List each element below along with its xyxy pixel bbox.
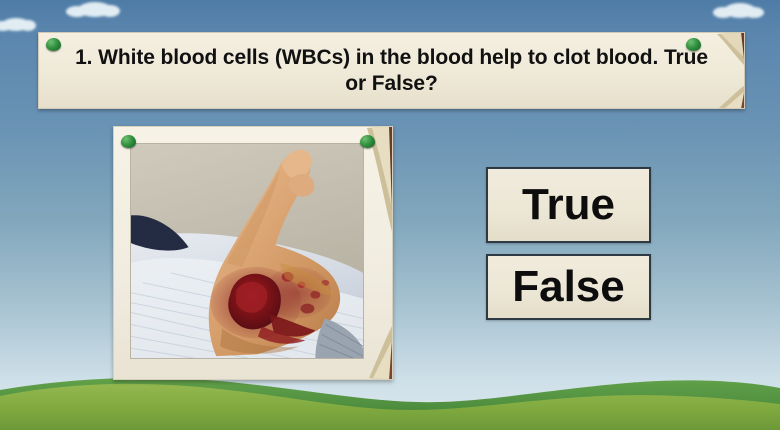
pushpin-icon (686, 38, 701, 51)
cloud-icon (724, 3, 756, 18)
photo-frame (113, 126, 393, 380)
clinical-photo (130, 143, 364, 359)
question-text: 1. White blood cells (WBCs) in the blood… (39, 45, 744, 96)
pushpin-icon (121, 135, 136, 148)
cloud-icon (2, 18, 30, 31)
answer-label-false: False (512, 265, 625, 309)
pushpin-icon (360, 135, 375, 148)
cloud-icon (78, 2, 112, 17)
answer-label-true: True (522, 183, 615, 227)
question-banner: 1. White blood cells (WBCs) in the blood… (38, 32, 745, 109)
answer-button-true[interactable]: True (486, 167, 651, 243)
foot-lesion-photo (131, 144, 363, 358)
pushpin-icon (46, 38, 61, 51)
answer-button-false[interactable]: False (486, 254, 651, 320)
quiz-slide: 1. White blood cells (WBCs) in the blood… (0, 0, 780, 430)
paper-curl-icon (363, 320, 393, 380)
